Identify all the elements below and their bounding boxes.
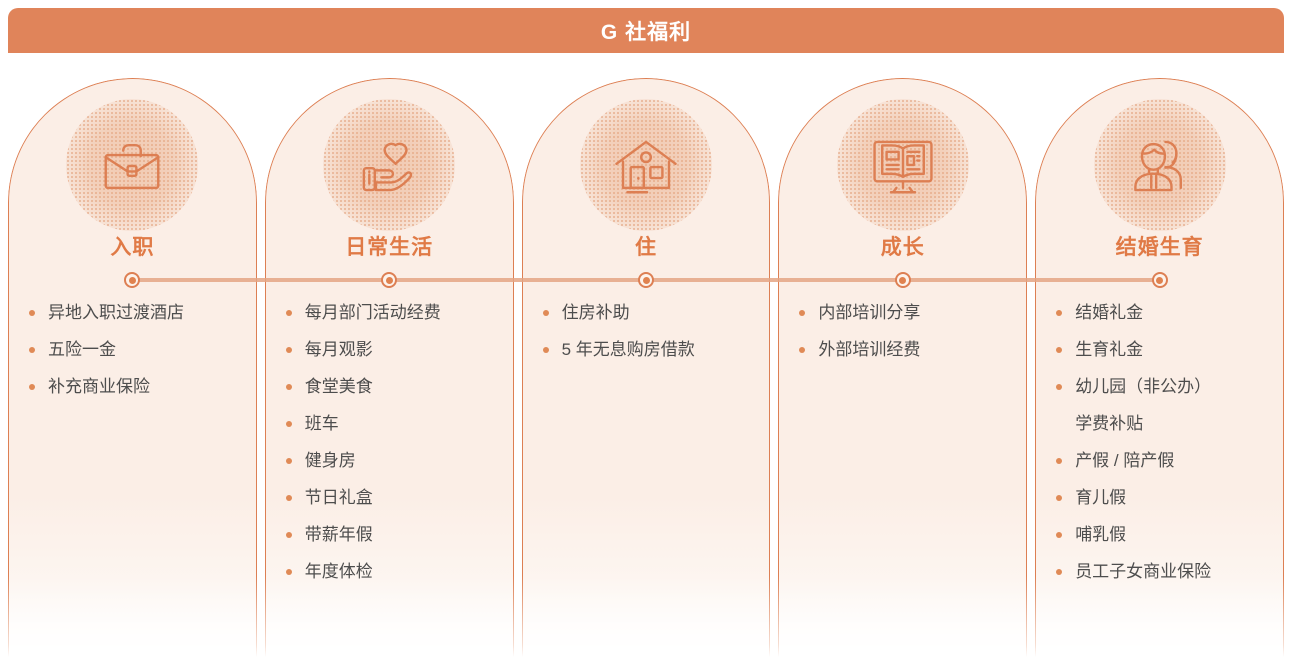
list-item-label: 节日礼盒 xyxy=(305,486,373,510)
bullet-dot-icon xyxy=(286,310,292,316)
bullet-dot-icon xyxy=(1056,495,1062,501)
list-item-label: 育儿假 xyxy=(1075,486,1126,510)
bullet-dot-icon xyxy=(1056,532,1062,538)
bullet-dot-icon xyxy=(1056,569,1062,575)
list-item: 班车 xyxy=(286,412,497,436)
list-item: 外部培训经费 xyxy=(799,338,1010,362)
benefit-column-4[interactable]: 成长内部培训分享外部培训经费 xyxy=(778,78,1027,657)
list-item-label: 哺乳假 xyxy=(1075,523,1126,547)
list-item-label: 产假 / 陪产假 xyxy=(1075,449,1174,473)
bullet-dot-icon xyxy=(286,347,292,353)
bullet-dot-icon xyxy=(1056,458,1062,464)
bullet-dot-icon xyxy=(799,310,805,316)
list-item-label: 补充商业保险 xyxy=(48,375,150,399)
benefit-list: 结婚礼金生育礼金幼儿园（非公办）学费补贴产假 / 陪产假育儿假哺乳假员工子女商业… xyxy=(1036,301,1283,597)
bullet-dot-icon xyxy=(286,532,292,538)
bullet-dot-icon xyxy=(286,458,292,464)
benefit-column-title: 住 xyxy=(523,231,770,261)
list-item-label: 年度体检 xyxy=(305,560,373,584)
list-item-label: 健身房 xyxy=(305,449,356,473)
header-banner: G 社福利 xyxy=(8,8,1284,53)
benefit-column-1[interactable]: 入职异地入职过渡酒店五险一金补充商业保险 xyxy=(8,78,257,657)
bullet-dot-icon xyxy=(286,384,292,390)
list-item-label: 每月观影 xyxy=(305,338,373,362)
couple-icon xyxy=(1121,127,1199,205)
list-item: 育儿假 xyxy=(1056,486,1267,510)
list-item-label: 带薪年假 xyxy=(305,523,373,547)
list-item: 5 年无息购房借款 xyxy=(543,338,754,362)
list-item: 幼儿园（非公办） xyxy=(1056,375,1267,399)
list-item: 每月部门活动经费 xyxy=(286,301,497,325)
list-item-label: 五险一金 xyxy=(48,338,116,362)
list-item-label: 异地入职过渡酒店 xyxy=(48,301,184,325)
benefit-list: 住房补助5 年无息购房借款 xyxy=(523,301,770,375)
bullet-dot-icon xyxy=(1056,421,1062,427)
benefit-column-3[interactable]: 住住房补助5 年无息购房借款 xyxy=(522,78,771,657)
list-item: 节日礼盒 xyxy=(286,486,497,510)
list-item-label: 每月部门活动经费 xyxy=(305,301,441,325)
list-item-label: 内部培训分享 xyxy=(818,301,920,325)
list-item-label: 生育礼金 xyxy=(1075,338,1143,362)
list-item-label: 学费补贴 xyxy=(1075,412,1143,436)
list-item-label: 结婚礼金 xyxy=(1075,301,1143,325)
benefit-column-title: 成长 xyxy=(779,231,1026,261)
bullet-dot-icon xyxy=(286,569,292,575)
list-item: 住房补助 xyxy=(543,301,754,325)
bullet-dot-icon xyxy=(29,310,35,316)
list-item: 带薪年假 xyxy=(286,523,497,547)
list-item-label: 外部培训经费 xyxy=(818,338,920,362)
bullet-dot-icon xyxy=(29,347,35,353)
benefit-list: 内部培训分享外部培训经费 xyxy=(779,301,1026,375)
list-item: 员工子女商业保险 xyxy=(1056,560,1267,584)
benefit-column-2[interactable]: 日常生活每月部门活动经费每月观影食堂美食班车健身房节日礼盒带薪年假年度体检 xyxy=(265,78,514,657)
bullet-dot-icon xyxy=(1056,310,1062,316)
bullet-dot-icon xyxy=(543,310,549,316)
bullet-dot-icon xyxy=(29,384,35,390)
list-item-label: 食堂美食 xyxy=(305,375,373,399)
list-item: 食堂美食 xyxy=(286,375,497,399)
list-item-label: 幼儿园（非公办） xyxy=(1075,375,1211,399)
benefit-columns: 入职异地入职过渡酒店五险一金补充商业保险 日常生活每月部门活动经费每月观影食堂美… xyxy=(8,78,1284,657)
bullet-dot-icon xyxy=(286,421,292,427)
list-item: 内部培训分享 xyxy=(799,301,1010,325)
benefit-column-title: 入职 xyxy=(9,231,256,261)
list-item-label: 班车 xyxy=(305,412,339,436)
list-item: 健身房 xyxy=(286,449,497,473)
list-item: 异地入职过渡酒店 xyxy=(29,301,240,325)
benefit-column-5[interactable]: 结婚生育结婚礼金生育礼金幼儿园（非公办）学费补贴产假 / 陪产假育儿假哺乳假员工… xyxy=(1035,78,1284,657)
hand-heart-care-icon xyxy=(350,127,428,205)
benefit-list: 异地入职过渡酒店五险一金补充商业保险 xyxy=(9,301,256,412)
bullet-dot-icon xyxy=(1056,384,1062,390)
list-item: 哺乳假 xyxy=(1056,523,1267,547)
house-icon xyxy=(607,127,685,205)
list-item: 五险一金 xyxy=(29,338,240,362)
benefit-list: 每月部门活动经费每月观影食堂美食班车健身房节日礼盒带薪年假年度体检 xyxy=(266,301,513,597)
bullet-dot-icon xyxy=(1056,347,1062,353)
list-item: 生育礼金 xyxy=(1056,338,1267,362)
list-item: 补充商业保险 xyxy=(29,375,240,399)
benefit-column-title: 结婚生育 xyxy=(1036,231,1283,261)
list-item: 学费补贴 xyxy=(1056,412,1267,436)
list-item: 产假 / 陪产假 xyxy=(1056,449,1267,473)
list-item: 年度体检 xyxy=(286,560,497,584)
briefcase-icon xyxy=(93,127,171,205)
list-item-label: 5 年无息购房借款 xyxy=(562,338,695,362)
benefits-infographic: G 社福利 入职异地入职过渡酒店五险一金补充商业保险 日常生活每月部门活动经费每… xyxy=(0,0,1292,657)
list-item: 结婚礼金 xyxy=(1056,301,1267,325)
list-item-label: 住房补助 xyxy=(562,301,630,325)
bullet-dot-icon xyxy=(799,347,805,353)
bullet-dot-icon xyxy=(543,347,549,353)
bullet-dot-icon xyxy=(286,495,292,501)
monitor-book-icon xyxy=(864,127,942,205)
page-title: G 社福利 xyxy=(601,16,691,46)
benefit-column-title: 日常生活 xyxy=(266,231,513,261)
list-item-label: 员工子女商业保险 xyxy=(1075,560,1211,584)
list-item: 每月观影 xyxy=(286,338,497,362)
